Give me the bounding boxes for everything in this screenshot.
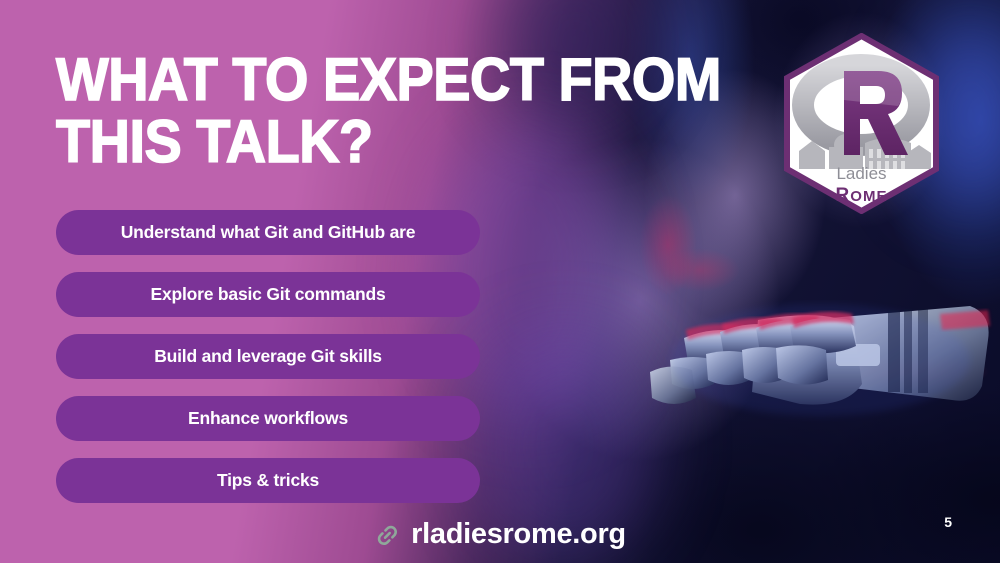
logo-ladies-text: Ladies [836,164,886,183]
page-title: What to expect from this talk? [56,49,614,173]
bullet-pill[interactable]: Tips & tricks [56,458,480,503]
logo-rome-text: ROME [836,185,888,206]
footer-url[interactable]: rladiesrome.org [411,520,626,549]
slide: What to expect from this talk? Understan… [0,0,1000,563]
footer: rladiesrome.org [0,520,1000,549]
title-line-1: What to expect from [56,49,614,111]
bullet-pill[interactable]: Build and leverage Git skills [56,334,480,379]
title-line-2: this talk? [56,111,614,173]
bullet-pill-list: Understand what Git and GitHub are Explo… [56,210,480,503]
bullet-pill[interactable]: Enhance workflows [56,396,480,441]
bullet-pill[interactable]: Understand what Git and GitHub are [56,210,480,255]
link-icon [374,522,400,548]
robotic-hand-graphic [640,300,1000,510]
bullet-pill[interactable]: Explore basic Git commands [56,272,480,317]
rladies-rome-logo: Ladies ROME [781,33,942,214]
page-number: 5 [944,514,952,530]
